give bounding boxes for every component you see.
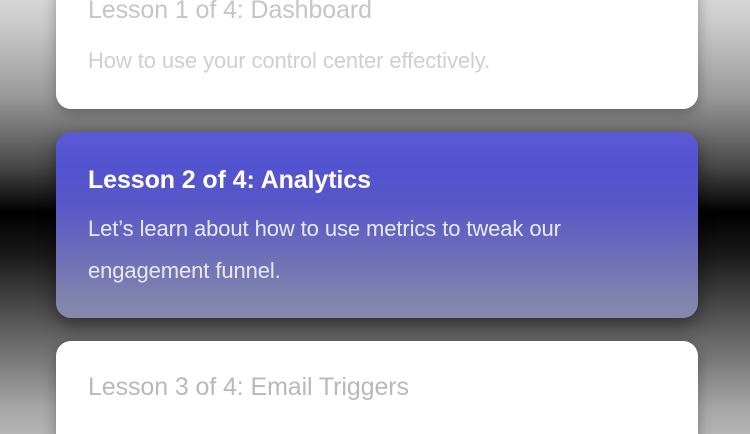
lesson-card-2-description: Let’s learn about how to use metrics to … bbox=[88, 208, 598, 292]
lesson-card-2-title: Lesson 2 of 4: Analytics bbox=[88, 164, 666, 196]
lesson-card-1-title: Lesson 1 of 4: Dashboard bbox=[88, 0, 666, 26]
lesson-card-1[interactable]: Lesson 1 of 4: Dashboard How to use your… bbox=[56, 0, 698, 109]
lesson-card-3[interactable]: Lesson 3 of 4: Email Triggers bbox=[56, 341, 698, 434]
lesson-list: Lesson 1 of 4: Dashboard How to use your… bbox=[56, 0, 698, 434]
lesson-card-2[interactable]: Lesson 2 of 4: Analytics Let’s learn abo… bbox=[56, 132, 698, 318]
lesson-list-screen: Lesson 1 of 4: Dashboard How to use your… bbox=[0, 0, 750, 434]
lesson-card-3-title: Lesson 3 of 4: Email Triggers bbox=[88, 371, 666, 403]
lesson-card-1-description: How to use your control center effective… bbox=[88, 40, 598, 82]
